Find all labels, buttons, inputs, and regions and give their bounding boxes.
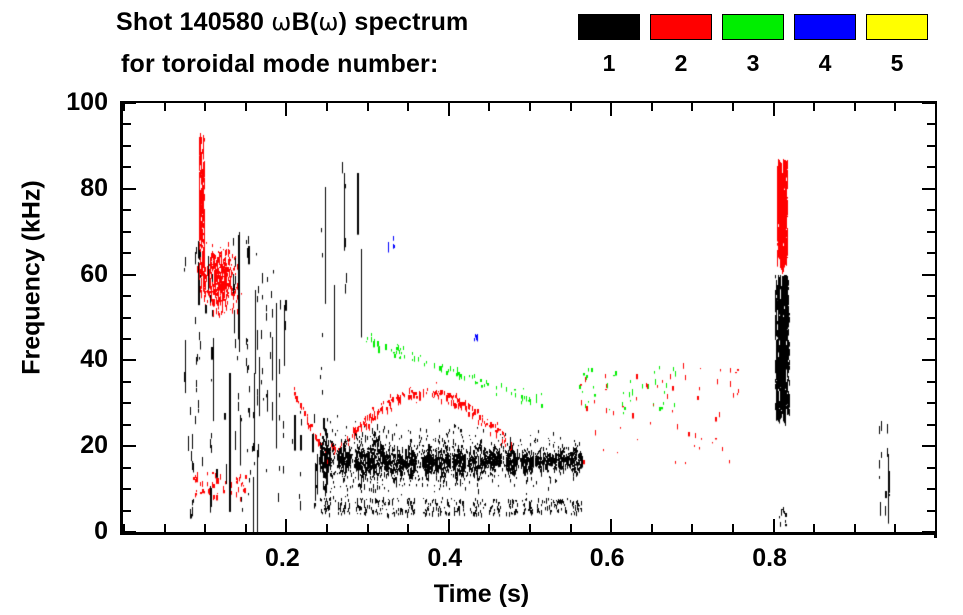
x-tick-0.10 [204, 524, 206, 532]
x-tick-top-0.45 [488, 103, 490, 111]
y-tick-right-15 [927, 467, 935, 469]
x-tick-label-0.4: 0.4 [400, 546, 490, 571]
x-tick-top-0.25 [326, 103, 328, 111]
y-tick-right-10 [927, 488, 935, 490]
y-tick-40 [123, 359, 136, 361]
y-tick-right-70 [927, 231, 935, 233]
y-tick-right-85 [927, 166, 935, 168]
x-tick-0.45 [488, 524, 490, 532]
y-tick-label-0: 0 [94, 519, 108, 544]
y-tick-65 [123, 252, 131, 254]
x-tick-0.60 [610, 519, 612, 532]
y-tick-right-0 [922, 531, 935, 533]
legend-item-4[interactable]: 4 [794, 14, 856, 76]
y-tick-right-45 [927, 338, 935, 340]
legend-label-4: 4 [794, 50, 856, 76]
y-tick-55 [123, 295, 131, 297]
x-tick-0.25 [326, 524, 328, 532]
x-tick-1.00 [935, 524, 937, 532]
x-tick-0.95 [894, 524, 896, 532]
x-tick-top-0.95 [894, 103, 896, 111]
x-tick-top-0.80 [773, 103, 775, 116]
x-axis-title: Time (s) [0, 580, 963, 609]
y-tick-35 [123, 381, 131, 383]
x-tick-0.85 [813, 524, 815, 532]
x-tick-top-0.40 [448, 103, 450, 116]
legend: 12345 [578, 14, 950, 90]
y-tick-45 [123, 338, 131, 340]
x-tick-0.05 [164, 524, 166, 532]
x-tick-0.55 [570, 524, 572, 532]
spectrogram-canvas [123, 103, 935, 532]
omega-symbol-2: ω [318, 8, 338, 36]
y-tick-70 [123, 231, 131, 233]
y-tick-right-55 [927, 295, 935, 297]
legend-swatch-4 [794, 14, 856, 40]
x-tick-top-0.35 [407, 103, 409, 111]
y-tick-right-40 [922, 359, 935, 361]
legend-label-3: 3 [722, 50, 784, 76]
y-tick-right-25 [927, 424, 935, 426]
y-tick-75 [123, 209, 131, 211]
x-tick-top-0.55 [570, 103, 572, 111]
x-tick-top-0.90 [854, 103, 856, 111]
x-tick-top-0.60 [610, 103, 612, 116]
legend-item-2[interactable]: 2 [650, 14, 712, 76]
y-tick-label-80: 80 [80, 176, 108, 201]
y-tick-5 [123, 510, 131, 512]
y-tick-80 [123, 188, 136, 190]
y-tick-15 [123, 467, 131, 469]
y-tick-right-5 [927, 510, 935, 512]
x-tick-top-0.10 [204, 103, 206, 111]
x-tick-top-0.20 [285, 103, 287, 116]
omega-symbol-1: ω [271, 8, 291, 36]
x-tick-top-0.75 [732, 103, 734, 111]
legend-swatch-5 [866, 14, 928, 40]
y-tick-right-65 [927, 252, 935, 254]
x-tick-top-0.50 [529, 103, 531, 111]
x-tick-top-0.65 [651, 103, 653, 111]
legend-swatch-1 [578, 14, 640, 40]
y-tick-right-75 [927, 209, 935, 211]
x-tick-0.65 [651, 524, 653, 532]
y-tick-85 [123, 166, 131, 168]
x-tick-0.90 [854, 524, 856, 532]
y-tick-label-100: 100 [66, 90, 108, 115]
y-tick-label-40: 40 [80, 347, 108, 372]
x-tick-top-1.00 [935, 103, 937, 111]
y-tick-right-80 [922, 188, 935, 190]
y-tick-right-100 [922, 102, 935, 104]
x-tick-0.00 [123, 524, 125, 532]
y-tick-90 [123, 145, 131, 147]
figure-title-line-2: for toroidal mode number: [121, 50, 439, 79]
x-tick-label-0.8: 0.8 [725, 546, 815, 571]
legend-label-5: 5 [866, 50, 928, 76]
y-tick-50 [123, 317, 131, 319]
x-tick-0.40 [448, 519, 450, 532]
y-tick-30 [123, 402, 131, 404]
y-tick-25 [123, 424, 131, 426]
y-tick-20 [123, 445, 136, 447]
x-tick-0.30 [367, 524, 369, 532]
y-tick-60 [123, 274, 136, 276]
x-tick-0.35 [407, 524, 409, 532]
x-tick-top-0.05 [164, 103, 166, 111]
x-tick-top-0.70 [691, 103, 693, 111]
title-mid: B( [292, 8, 319, 36]
x-tick-0.80 [773, 519, 775, 532]
spectrogram-figure: Shot 140580 ωB(ω) spectrum for toroidal … [0, 0, 963, 615]
legend-swatch-2 [650, 14, 712, 40]
title-suffix: ) spectrum [339, 8, 469, 36]
y-tick-right-50 [927, 317, 935, 319]
plot-area [120, 103, 935, 535]
title-prefix: Shot 140580 [116, 8, 271, 36]
x-tick-label-0.2: 0.2 [237, 546, 327, 571]
x-tick-top-0.15 [245, 103, 247, 111]
y-tick-right-90 [927, 145, 935, 147]
y-tick-right-35 [927, 381, 935, 383]
y-tick-10 [123, 488, 131, 490]
y-tick-label-20: 20 [80, 433, 108, 458]
y-axis-tick-labels: 020406080100 [0, 103, 108, 535]
x-tick-0.50 [529, 524, 531, 532]
x-tick-0.75 [732, 524, 734, 532]
x-axis-tick-labels: 0.20.40.60.8 [120, 546, 935, 576]
legend-swatch-3 [722, 14, 784, 40]
y-tick-right-30 [927, 402, 935, 404]
legend-label-2: 2 [650, 50, 712, 76]
y-tick-right-60 [922, 274, 935, 276]
x-tick-0.15 [245, 524, 247, 532]
figure-title-line-1: Shot 140580 ωB(ω) spectrum [116, 8, 468, 37]
x-tick-top-0.85 [813, 103, 815, 111]
legend-item-5[interactable]: 5 [866, 14, 928, 76]
x-tick-0.70 [691, 524, 693, 532]
legend-item-3[interactable]: 3 [722, 14, 784, 76]
x-tick-top-0.00 [123, 103, 125, 111]
x-tick-label-0.6: 0.6 [562, 546, 652, 571]
y-tick-label-60: 60 [80, 262, 108, 287]
legend-item-1[interactable]: 1 [578, 14, 640, 76]
x-tick-0.20 [285, 519, 287, 532]
y-tick-right-20 [922, 445, 935, 447]
y-tick-95 [123, 123, 131, 125]
y-tick-right-95 [927, 123, 935, 125]
x-tick-top-0.30 [367, 103, 369, 111]
legend-label-1: 1 [578, 50, 640, 76]
